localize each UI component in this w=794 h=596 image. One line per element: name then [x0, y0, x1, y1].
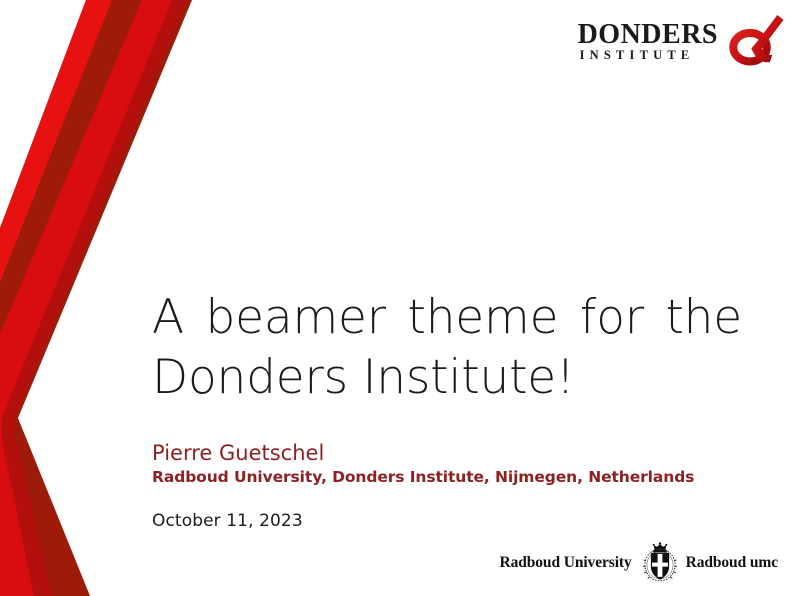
author-affiliation: Radboud University, Donders Institute, N…	[152, 467, 752, 487]
chevron-bright-stripe-main	[0, 0, 172, 596]
page-title-line-1: A beamer theme for the	[152, 288, 742, 348]
presentation-date: October 11, 2023	[152, 511, 303, 531]
slide-title-page: DONDERS INSTITUTE A beamer theme for the…	[0, 0, 794, 596]
donders-logo-name: DONDERS	[578, 21, 718, 48]
radboud-university-label: Radboud University	[499, 554, 631, 572]
page-title-line-2: Donders Institute!	[152, 348, 742, 408]
chevron-stripe-2	[0, 0, 155, 596]
donders-wordmark: DONDERS INSTITUTE	[578, 21, 722, 63]
author-name: Pierre Guetschel	[152, 440, 752, 466]
donders-logo-subtitle: INSTITUTE	[578, 49, 695, 63]
chevron-stripe-1	[0, 0, 120, 300]
donders-institute-logo: DONDERS INSTITUTE	[578, 12, 786, 72]
page-title: A beamer theme for the Donders Institute…	[152, 288, 742, 408]
author-block: Pierre Guetschel Radboud University, Don…	[152, 440, 752, 487]
chevron-bright-top-edge	[0, 0, 112, 282]
radboud-umc-label: Radboud umc	[686, 554, 778, 572]
radboud-footer-logo: Radboud University	[499, 542, 778, 584]
title-block: A beamer theme for the Donders Institute…	[152, 288, 742, 408]
chevron-white-top	[0, 0, 86, 228]
radboud-crest-icon	[640, 542, 680, 584]
alpha-symbol-icon	[724, 10, 786, 72]
